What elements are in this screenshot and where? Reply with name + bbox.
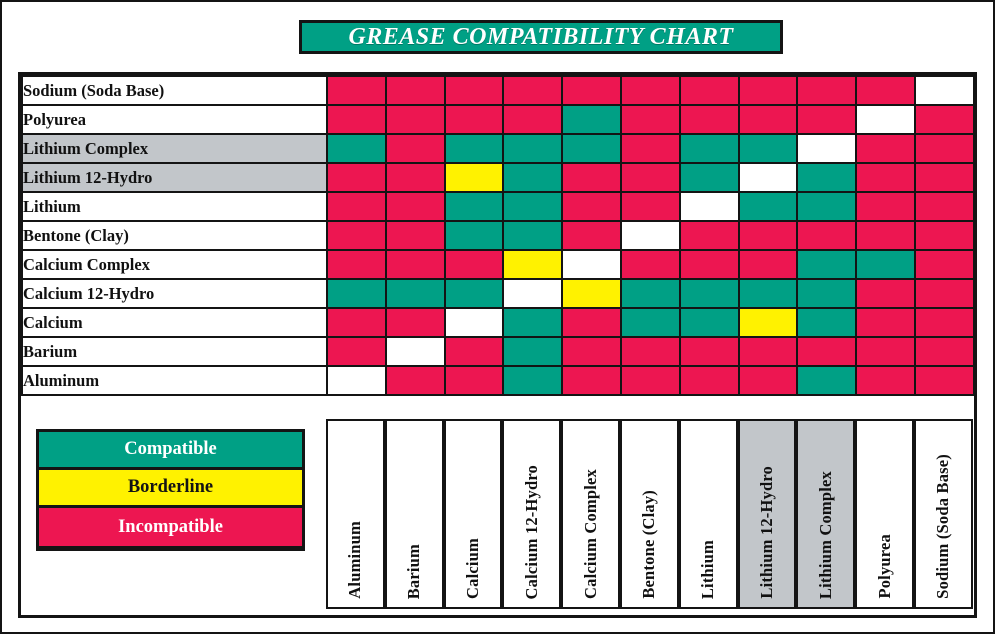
- table-row: Sodium (Soda Base): [22, 76, 974, 105]
- matrix-cell: [915, 337, 974, 366]
- matrix-cell: [503, 308, 562, 337]
- matrix-cell: [915, 105, 974, 134]
- column-header: Lithium: [679, 419, 738, 609]
- matrix-cell: [386, 337, 445, 366]
- legend-item-label: Compatible: [124, 439, 217, 460]
- matrix-cell: [562, 76, 621, 105]
- legend-item-incompatible: Incompatible: [39, 508, 302, 546]
- chart-page: GREASE COMPATIBILITY CHART Sodium (Soda …: [2, 2, 993, 632]
- table-row: Polyurea: [22, 105, 974, 134]
- legend-item-label: Incompatible: [118, 517, 223, 538]
- matrix-cell: [503, 337, 562, 366]
- column-header: Lithium 12-Hydro: [738, 419, 797, 609]
- matrix-cell: [445, 105, 504, 134]
- matrix-cell: [680, 221, 739, 250]
- row-label: Calcium Complex: [22, 250, 327, 279]
- matrix-cell: [327, 279, 386, 308]
- matrix-cell: [386, 250, 445, 279]
- column-header: Barium: [385, 419, 444, 609]
- matrix-cell: [445, 134, 504, 163]
- column-header: Calcium Complex: [561, 419, 620, 609]
- matrix-cell: [621, 250, 680, 279]
- matrix-cell: [445, 366, 504, 395]
- matrix-cell: [680, 105, 739, 134]
- matrix-cell: [915, 250, 974, 279]
- table-row: Barium: [22, 337, 974, 366]
- matrix-cell: [739, 308, 798, 337]
- matrix-cell: [739, 192, 798, 221]
- matrix-cell: [562, 337, 621, 366]
- table-row: Calcium 12-Hydro: [22, 279, 974, 308]
- matrix-cell: [562, 221, 621, 250]
- matrix-cell: [797, 250, 856, 279]
- row-label: Barium: [22, 337, 327, 366]
- chart-frame: Sodium (Soda Base)PolyureaLithium Comple…: [18, 72, 977, 618]
- matrix-cell: [386, 134, 445, 163]
- matrix-cell: [621, 308, 680, 337]
- matrix-cell: [856, 163, 915, 192]
- column-header-label: Barium: [404, 544, 424, 599]
- table-row: Lithium: [22, 192, 974, 221]
- column-header-label: Calcium: [463, 538, 483, 599]
- matrix-cell: [739, 366, 798, 395]
- matrix-cell: [327, 337, 386, 366]
- matrix-cell: [445, 250, 504, 279]
- page-title: GREASE COMPATIBILITY CHART: [348, 24, 733, 51]
- column-header-label: Lithium 12-Hydro: [757, 466, 777, 599]
- matrix-cell: [503, 192, 562, 221]
- matrix-cell: [915, 279, 974, 308]
- matrix-cell: [739, 134, 798, 163]
- table-row: Lithium 12-Hydro: [22, 163, 974, 192]
- column-header-label: Bentone (Clay): [639, 490, 659, 599]
- matrix-cell: [562, 279, 621, 308]
- matrix-cell: [327, 105, 386, 134]
- matrix-cell: [856, 76, 915, 105]
- matrix-cell: [327, 221, 386, 250]
- matrix-cell: [621, 105, 680, 134]
- matrix-cell: [386, 366, 445, 395]
- matrix-cell: [386, 163, 445, 192]
- row-label: Bentone (Clay): [22, 221, 327, 250]
- table-row: Aluminum: [22, 366, 974, 395]
- matrix-cell: [739, 279, 798, 308]
- column-header: Sodium (Soda Base): [914, 419, 973, 609]
- matrix-cell: [445, 308, 504, 337]
- matrix-cell: [503, 105, 562, 134]
- matrix-cell: [445, 76, 504, 105]
- matrix-cell: [739, 105, 798, 134]
- matrix-cell: [621, 366, 680, 395]
- matrix-cell: [797, 105, 856, 134]
- legend-item-label: Borderline: [128, 477, 213, 498]
- matrix-cell: [915, 308, 974, 337]
- matrix-cell: [445, 221, 504, 250]
- matrix-cell: [680, 163, 739, 192]
- column-header-label: Calcium 12-Hydro: [522, 465, 542, 599]
- matrix-cell: [503, 279, 562, 308]
- matrix-cell: [797, 163, 856, 192]
- matrix-cell: [739, 163, 798, 192]
- matrix-cell: [680, 279, 739, 308]
- matrix-cell: [621, 221, 680, 250]
- matrix-cell: [503, 366, 562, 395]
- column-header-label: Lithium: [698, 540, 718, 599]
- legend-item-compatible: Compatible: [39, 432, 302, 470]
- column-header: Polyurea: [855, 419, 914, 609]
- matrix-cell: [327, 192, 386, 221]
- matrix-cell: [503, 76, 562, 105]
- matrix-cell: [856, 221, 915, 250]
- row-label: Aluminum: [22, 366, 327, 395]
- matrix-cell: [327, 250, 386, 279]
- matrix-cell: [915, 366, 974, 395]
- matrix-cell: [915, 221, 974, 250]
- row-label: Lithium Complex: [22, 134, 327, 163]
- matrix-cell: [621, 192, 680, 221]
- matrix-cell: [797, 134, 856, 163]
- matrix-cell: [856, 337, 915, 366]
- matrix-cell: [503, 134, 562, 163]
- matrix-cell: [445, 337, 504, 366]
- matrix-cell: [680, 192, 739, 221]
- matrix-cell: [562, 163, 621, 192]
- matrix-cell: [856, 192, 915, 221]
- matrix-cell: [327, 163, 386, 192]
- table-row: Calcium: [22, 308, 974, 337]
- column-header-label: Aluminum: [345, 521, 365, 599]
- matrix-cell: [503, 221, 562, 250]
- matrix-cell: [386, 105, 445, 134]
- matrix-cell: [797, 366, 856, 395]
- column-header-label: Polyurea: [875, 534, 895, 599]
- matrix-cell: [856, 308, 915, 337]
- column-header-label: Sodium (Soda Base): [933, 454, 953, 599]
- matrix-cell: [856, 134, 915, 163]
- matrix-cell: [739, 250, 798, 279]
- matrix-cell: [621, 76, 680, 105]
- column-header-label: Lithium Complex: [816, 471, 836, 599]
- matrix-cell: [797, 308, 856, 337]
- matrix-cell: [856, 366, 915, 395]
- matrix-cell: [856, 105, 915, 134]
- legend: CompatibleBorderlineIncompatible: [36, 429, 305, 551]
- matrix-cell: [562, 134, 621, 163]
- row-label: Lithium 12-Hydro: [22, 163, 327, 192]
- matrix-cell: [797, 337, 856, 366]
- row-label: Sodium (Soda Base): [22, 76, 327, 105]
- matrix-cell: [739, 337, 798, 366]
- matrix-cell: [680, 134, 739, 163]
- matrix-cell: [621, 163, 680, 192]
- table-row: Lithium Complex: [22, 134, 974, 163]
- chart-title-banner: GREASE COMPATIBILITY CHART: [299, 20, 783, 54]
- matrix-cell: [503, 163, 562, 192]
- matrix-cell: [621, 279, 680, 308]
- column-header: Bentone (Clay): [620, 419, 679, 609]
- matrix-cell: [739, 76, 798, 105]
- matrix-cell: [680, 250, 739, 279]
- matrix-cell: [562, 366, 621, 395]
- matrix-cell: [327, 134, 386, 163]
- matrix-cell: [915, 76, 974, 105]
- matrix-cell: [680, 308, 739, 337]
- table-row: Calcium Complex: [22, 250, 974, 279]
- matrix-cell: [327, 366, 386, 395]
- column-header: Calcium 12-Hydro: [502, 419, 561, 609]
- matrix-cell: [386, 308, 445, 337]
- matrix-cell: [797, 221, 856, 250]
- matrix-cell: [621, 337, 680, 366]
- row-label: Lithium: [22, 192, 327, 221]
- matrix-cell: [562, 308, 621, 337]
- matrix-cell: [680, 366, 739, 395]
- matrix-cell: [327, 76, 386, 105]
- column-header: Calcium: [444, 419, 503, 609]
- matrix-cell: [856, 279, 915, 308]
- matrix-cell: [915, 134, 974, 163]
- matrix-cell: [621, 134, 680, 163]
- legend-item-borderline: Borderline: [39, 470, 302, 508]
- matrix-cell: [797, 279, 856, 308]
- row-label: Calcium: [22, 308, 327, 337]
- row-label: Polyurea: [22, 105, 327, 134]
- matrix-cell: [445, 279, 504, 308]
- compatibility-matrix: Sodium (Soda Base)PolyureaLithium Comple…: [21, 75, 975, 396]
- column-header-strip: AluminumBariumCalciumCalcium 12-HydroCal…: [326, 419, 974, 609]
- matrix-cell: [445, 192, 504, 221]
- matrix-cell: [386, 192, 445, 221]
- matrix-cell: [739, 221, 798, 250]
- column-header: Lithium Complex: [796, 419, 855, 609]
- matrix-cell: [680, 76, 739, 105]
- matrix-cell: [562, 105, 621, 134]
- matrix-cell: [915, 163, 974, 192]
- matrix-cell: [797, 192, 856, 221]
- matrix-cell: [503, 250, 562, 279]
- matrix-cell: [856, 250, 915, 279]
- column-header: Aluminum: [326, 419, 385, 609]
- matrix-cell: [562, 250, 621, 279]
- column-header-label: Calcium Complex: [581, 469, 601, 599]
- matrix-cell: [327, 308, 386, 337]
- matrix-cell: [797, 76, 856, 105]
- row-label: Calcium 12-Hydro: [22, 279, 327, 308]
- matrix-cell: [386, 279, 445, 308]
- matrix-cell: [915, 192, 974, 221]
- table-row: Bentone (Clay): [22, 221, 974, 250]
- matrix-cell: [562, 192, 621, 221]
- matrix-cell: [386, 221, 445, 250]
- matrix-cell: [445, 163, 504, 192]
- matrix-cell: [386, 76, 445, 105]
- matrix-cell: [680, 337, 739, 366]
